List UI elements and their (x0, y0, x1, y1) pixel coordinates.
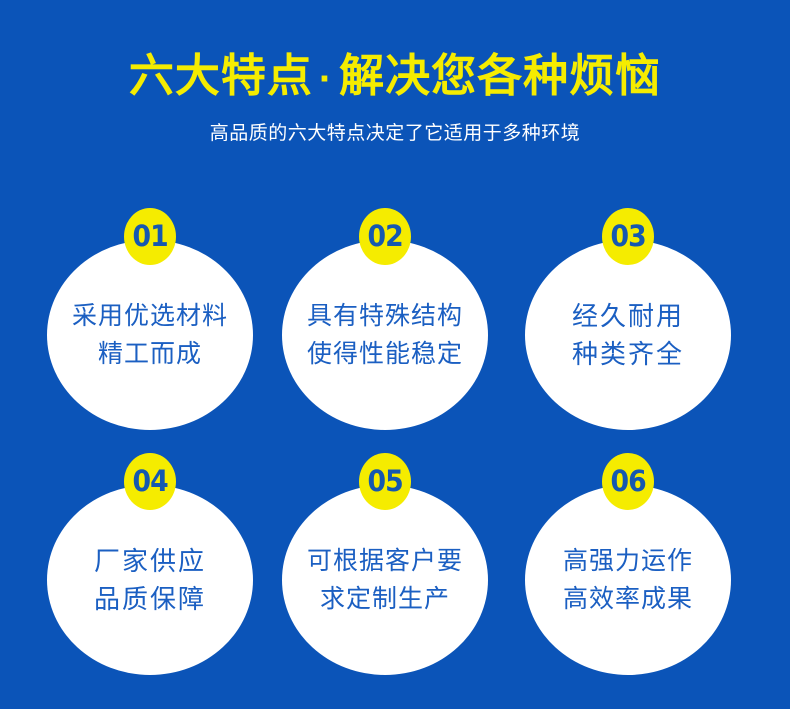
title-right-text: 解决您各种烦恼 (339, 50, 661, 101)
feature-text-line2: 种类齐全 (572, 335, 684, 373)
feature-item-01: 采用优选材料 精工而成 01 (47, 208, 253, 414)
feature-text-line1: 经久耐用 (572, 297, 684, 335)
feature-text-line1: 高强力运作 (563, 542, 693, 580)
feature-text-line1: 具有特殊结构 (307, 297, 463, 335)
page-title: 六大特点·解决您各种烦恼 (0, 0, 790, 107)
title-separator-dot: · (313, 51, 339, 107)
feature-poster: 六大特点·解决您各种烦恼 高品质的六大特点决定了它适用于多种环境 采用优选材料 … (0, 0, 790, 709)
feature-disc: 厂家供应 品质保障 (47, 485, 253, 675)
feature-number-badge: 03 (602, 208, 654, 265)
feature-number-badge: 02 (359, 208, 411, 265)
feature-item-02: 具有特殊结构 使得性能稳定 02 (282, 208, 488, 414)
feature-number-label: 01 (132, 222, 167, 251)
feature-disc: 可根据客户要 求定制生产 (282, 485, 488, 675)
feature-number-label: 02 (367, 222, 402, 251)
feature-grid: 采用优选材料 精工而成 01 具有特殊结构 使得性能稳定 02 经久耐用 种类齐… (0, 176, 790, 676)
feature-item-06: 高强力运作 高效率成果 06 (525, 453, 731, 659)
feature-item-05: 可根据客户要 求定制生产 05 (282, 453, 488, 659)
feature-text-line2: 精工而成 (98, 335, 202, 373)
feature-text-line2: 品质保障 (94, 580, 206, 618)
feature-disc: 高强力运作 高效率成果 (525, 485, 731, 675)
feature-disc: 经久耐用 种类齐全 (525, 240, 731, 430)
feature-number-label: 03 (610, 222, 645, 251)
feature-number-label: 04 (132, 467, 167, 496)
feature-disc: 采用优选材料 精工而成 (47, 240, 253, 430)
feature-number-label: 06 (610, 467, 645, 496)
feature-text-line1: 厂家供应 (94, 542, 206, 580)
title-left-text: 六大特点 (129, 50, 313, 101)
feature-number-badge: 01 (124, 208, 176, 265)
feature-text-line1: 采用优选材料 (72, 297, 228, 335)
feature-text-line1: 可根据客户要 (307, 542, 463, 580)
poster-header: 六大特点·解决您各种烦恼 高品质的六大特点决定了它适用于多种环境 (0, 0, 790, 147)
feature-item-03: 经久耐用 种类齐全 03 (525, 208, 731, 414)
feature-disc: 具有特殊结构 使得性能稳定 (282, 240, 488, 430)
feature-item-04: 厂家供应 品质保障 04 (47, 453, 253, 659)
feature-number-badge: 05 (359, 453, 411, 510)
feature-text-line2: 求定制生产 (320, 580, 450, 618)
feature-text-line2: 使得性能稳定 (307, 335, 463, 373)
page-subtitle: 高品质的六大特点决定了它适用于多种环境 (0, 107, 790, 147)
feature-number-badge: 06 (602, 453, 654, 510)
feature-text-line2: 高效率成果 (563, 580, 693, 618)
feature-number-label: 05 (367, 467, 402, 496)
feature-number-badge: 04 (124, 453, 176, 510)
